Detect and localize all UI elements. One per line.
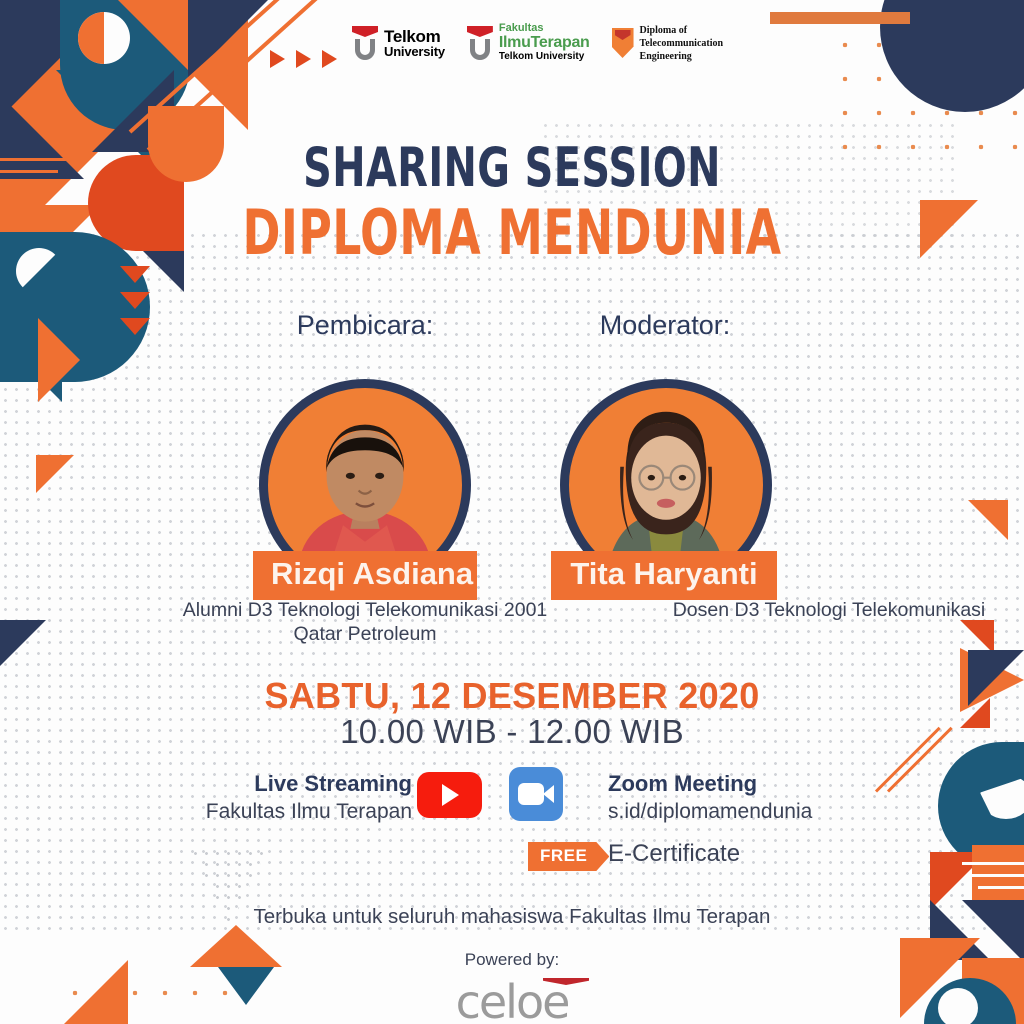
celoe-logo: celoe: [0, 975, 1024, 1024]
deco-orange-lines-tl2: [0, 170, 58, 173]
fit-logo-line2: IlmuTerapan: [499, 35, 590, 51]
deco-orange-tri-right-mid: [968, 500, 1008, 540]
free-badge: FREE: [528, 842, 609, 871]
event-date: SABTU, 12 DESEMBER 2020: [0, 675, 1024, 717]
speaker-bio-2-line1: Dosen D3 Teknologi Telekomunikasi: [484, 598, 1024, 623]
dte-logo-line2: Telecommunication: [640, 37, 724, 50]
deco-orange-bar-tr: [770, 12, 910, 24]
dte-logo-line3: Engineering: [640, 50, 724, 63]
deco-orange-lines-br1: [962, 862, 1024, 865]
telkom-logo-line2: University: [384, 45, 445, 58]
page-title-line1: SHARING SESSION: [92, 136, 932, 199]
livestream-title: Live Streaming: [232, 771, 412, 797]
header-logos: Telkom University Fakultas IlmuTerapan T…: [352, 14, 772, 72]
deco-orange-small-tri-left: [36, 455, 74, 493]
diploma-shield-icon: [612, 28, 634, 58]
youtube-play-icon[interactable]: [417, 772, 482, 818]
page-title-line2: DIPLOMA MENDUNIA: [92, 196, 932, 269]
zoom-cam-body: [518, 783, 544, 805]
powered-by-label: Powered by:: [0, 950, 1024, 970]
zoom-meeting-title: Zoom Meeting: [608, 771, 757, 797]
speaker-role-label-2: Moderator:: [515, 310, 815, 341]
zoom-camera-icon[interactable]: [509, 767, 563, 821]
deco-orange-lines-br3: [978, 886, 1024, 889]
event-time: 10.00 WIB - 12.00 WIB: [0, 713, 1024, 751]
fit-logo-line3: Telkom University: [499, 51, 590, 63]
deco-orange-right-arrow: [38, 318, 80, 402]
deco-navy-triangle-tl6: [0, 95, 84, 179]
poster-canvas: Telkom University Fakultas IlmuTerapan T…: [0, 0, 1024, 1024]
logo-diploma-telecom-engineering: Diploma of Telecommunication Engineering: [612, 24, 724, 63]
deco-orange-lines-tl: [0, 158, 66, 161]
deco-down-arrow-2: [120, 292, 150, 309]
logo-telkom-university: Telkom University: [352, 26, 445, 60]
deco-arrow-1: [270, 50, 285, 68]
deco-orange-lines-tl3: [0, 182, 50, 185]
open-for-note: Terbuka untuk seluruh mahasiswa Fakultas…: [0, 905, 1024, 929]
speaker-name-badge-2: Tita Haryanti: [551, 551, 777, 600]
deco-arrow-3: [322, 50, 337, 68]
deco-arrow-2: [296, 50, 311, 68]
e-certificate-label: E-Certificate: [608, 840, 740, 868]
telkom-logo-line1: Telkom: [384, 28, 445, 45]
telkom-u-icon: [352, 26, 378, 60]
zoom-cam-lens: [543, 785, 554, 803]
zoom-meeting-link[interactable]: s.id/diplomamendunia: [608, 800, 812, 824]
deco-orange-lines-br2: [970, 874, 1024, 877]
speaker-role-label-1: Pembicara:: [215, 310, 515, 341]
speaker-name-badge-1: Rizqi Asdiana: [253, 551, 477, 600]
logo-fakultas-ilmu-terapan: Fakultas IlmuTerapan Telkom University: [467, 23, 590, 62]
fit-u-icon: [467, 26, 493, 60]
livestream-channel-name: Fakultas Ilmu Terapan: [192, 800, 412, 824]
speaker-bio-1-line2: Qatar Petroleum: [25, 622, 705, 647]
dte-logo-line1: Diploma of: [640, 24, 724, 37]
deco-down-arrow-3: [120, 318, 150, 335]
